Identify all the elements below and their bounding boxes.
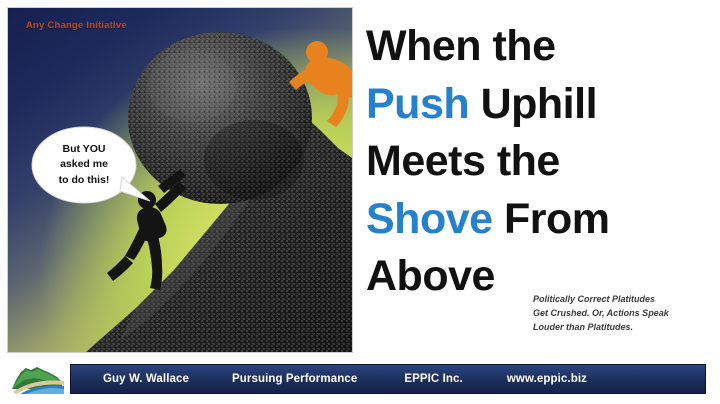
eppic-logo-icon: [10, 363, 66, 395]
headline-line-2: Push Uphill: [366, 76, 714, 134]
footer-item-company: EPPIC Inc.: [404, 373, 463, 385]
bubble-line-3: to do this!: [59, 173, 110, 188]
subtitle-line-3: Louder than Platitudes.: [533, 321, 713, 335]
image-kicker-label: Any Change Initiative: [26, 20, 127, 31]
headline-line-4: Shove From: [366, 191, 714, 249]
footer-item-website[interactable]: www.eppic.biz: [507, 373, 587, 385]
headline-line-2-rest: Uphill: [469, 80, 597, 128]
subtitle-block: Politically Correct Platitudes Get Crush…: [533, 293, 713, 335]
subtitle-line-2: Get Crushed. Or, Actions Speak: [533, 307, 713, 321]
illustration-sisyphus-boulder: Any Change Initiative But YOU asked me t…: [8, 8, 352, 352]
bubble-line-1: But YOU: [63, 142, 106, 157]
subtitle-line-1: Politically Correct Platitudes: [533, 293, 713, 307]
speech-bubble-text: But YOU asked me to do this!: [30, 125, 138, 205]
footer-bar: Guy W. Wallace Pursuing Performance EPPI…: [70, 364, 706, 394]
slide-canvas: Any Change Initiative But YOU asked me t…: [0, 0, 720, 404]
boulder: [128, 32, 312, 204]
speech-bubble: But YOU asked me to do this!: [30, 125, 150, 215]
headline-accent-push: Push: [366, 80, 469, 128]
headline-line-4-rest: From: [493, 195, 610, 243]
headline-line-1: When the: [366, 18, 714, 76]
headline-block: When the Push Uphill Meets the Shove Fro…: [366, 18, 714, 306]
footer-item-tagline: Pursuing Performance: [232, 373, 357, 385]
footer-item-name: Guy W. Wallace: [103, 373, 189, 385]
headline-line-3: Meets the: [366, 133, 714, 191]
headline-accent-shove: Shove: [366, 195, 493, 243]
bubble-line-2: asked me: [60, 157, 108, 172]
